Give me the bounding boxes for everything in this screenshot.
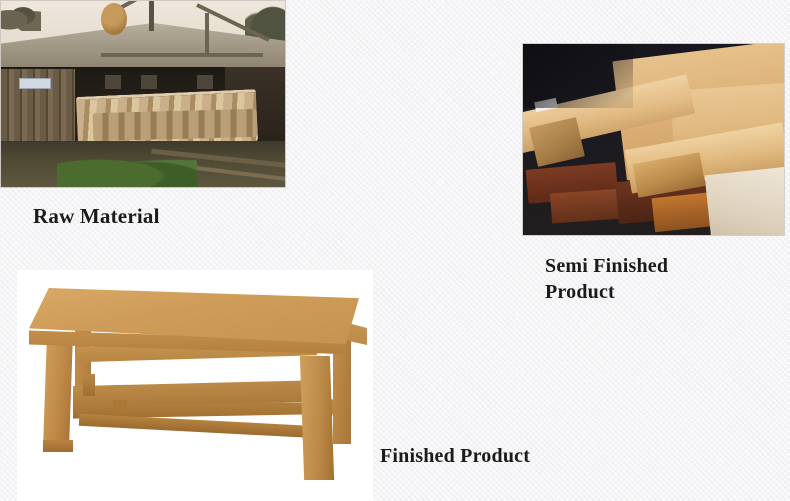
caption-finished-product: Finished Product xyxy=(380,444,530,470)
table-leg-front-right xyxy=(300,356,334,480)
shed-window xyxy=(105,75,121,89)
floor-highlight xyxy=(705,167,785,236)
log-stack-lower xyxy=(93,109,258,141)
table-stretcher xyxy=(79,414,319,439)
slide-canvas: Raw Material Semi Finished Product xyxy=(0,0,790,501)
caption-semi-finished: Semi Finished Product xyxy=(545,254,668,305)
caption-raw-material: Raw Material xyxy=(33,203,160,230)
pulley-wheel-icon xyxy=(101,3,127,35)
photo-semi-finished[interactable] xyxy=(522,43,785,236)
shed-window xyxy=(141,75,157,89)
photo-finished-product[interactable] xyxy=(17,270,373,501)
photo-raw-material[interactable] xyxy=(0,0,286,188)
shed-sign xyxy=(19,78,51,89)
shed-window xyxy=(197,75,213,89)
treeline-left xyxy=(1,3,41,31)
utility-pole xyxy=(149,1,154,31)
table-brace-left xyxy=(83,374,95,396)
table-leg-back-right xyxy=(333,340,351,444)
table-shelf-peg xyxy=(113,400,127,414)
table-leg-front-left xyxy=(43,336,73,446)
shadow-overlay xyxy=(523,44,633,108)
grass-patch xyxy=(57,151,197,187)
table-foot-front-left xyxy=(43,440,73,452)
